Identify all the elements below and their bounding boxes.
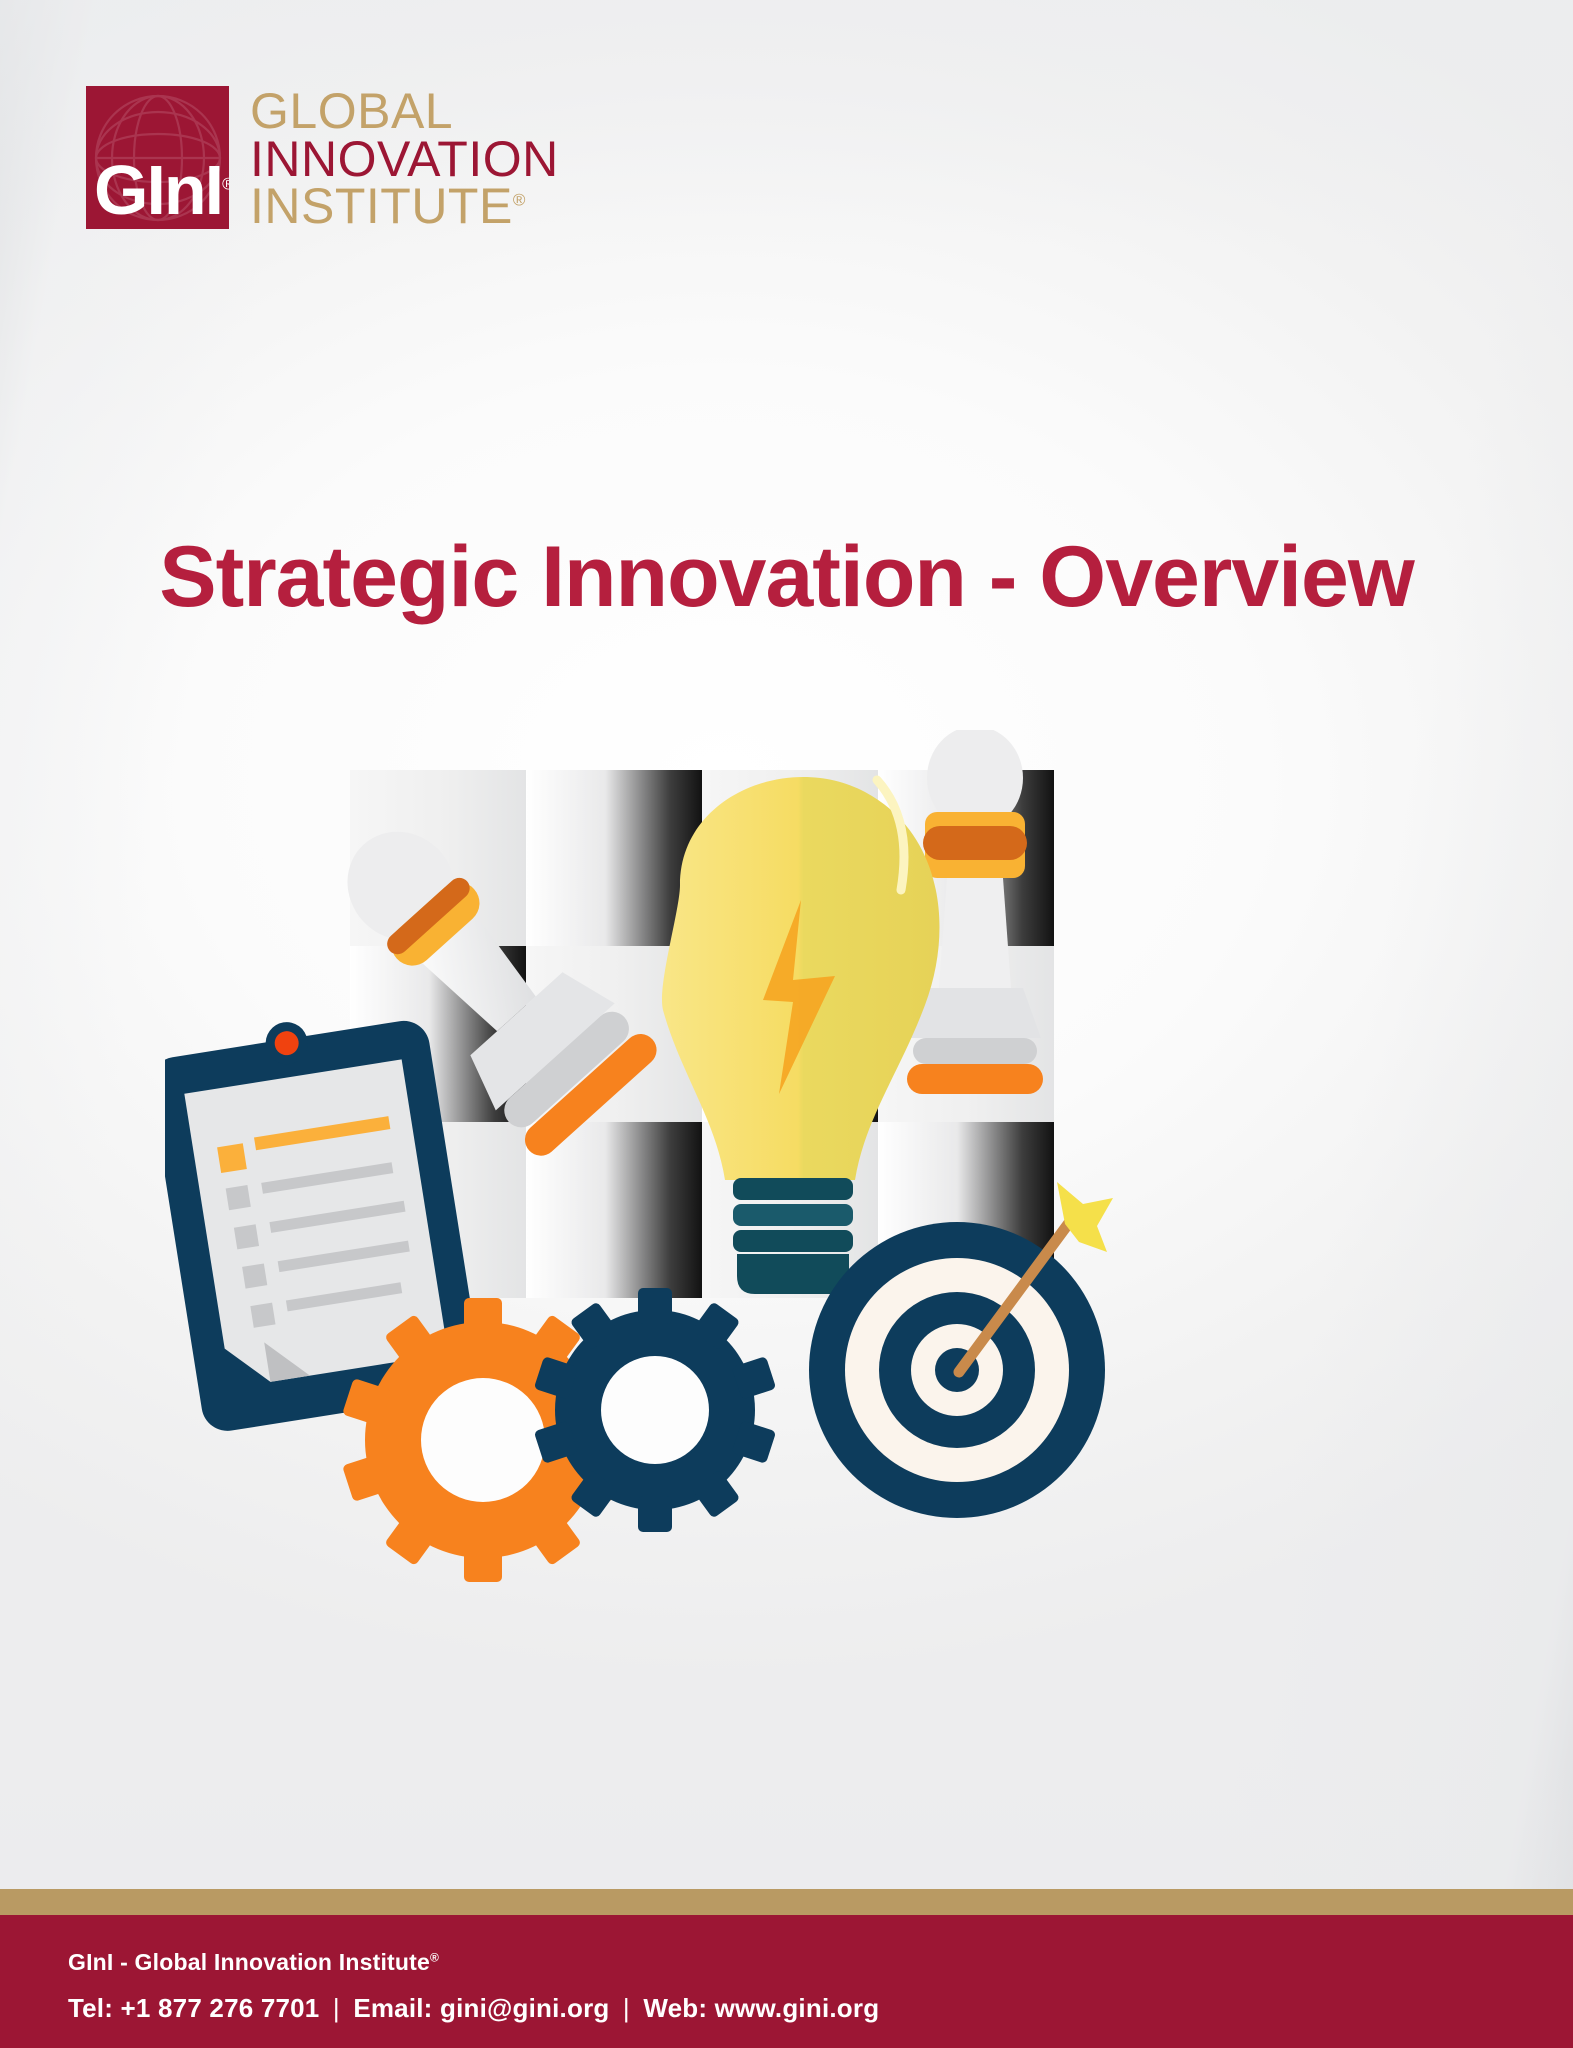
document-page: GInI® GLOBAL INNOVATION INSTITUTE® Strat…: [0, 0, 1573, 2048]
footer-tel-label: Tel:: [68, 1993, 113, 2023]
registered-mark-icon: ®: [430, 1950, 439, 1964]
logo-line-global: GLOBAL: [250, 88, 559, 136]
gini-logo-mark: GInI®: [86, 86, 229, 229]
footer-tel-value: +1 877 276 7701: [121, 1993, 320, 2023]
footer-gold-band: [0, 1889, 1573, 1915]
footer-web-value[interactable]: www.gini.org: [715, 1993, 880, 2023]
registered-mark-icon: ®: [222, 175, 229, 194]
logo-line-institute: INSTITUTE®: [250, 183, 559, 231]
registered-mark-icon: ®: [513, 190, 526, 209]
footer-separator: |: [617, 1993, 636, 2023]
page-footer: GInI - Global Innovation Institute® Tel:…: [0, 1915, 1573, 2048]
footer-contact-line: Tel: +1 877 276 7701 | Email: gini@gini.…: [68, 1993, 879, 2024]
page-title: Strategic Innovation - Overview: [0, 528, 1573, 627]
footer-email-value[interactable]: gini@gini.org: [440, 1993, 609, 2023]
footer-separator: |: [327, 1993, 346, 2023]
footer-web-label: Web:: [643, 1993, 707, 2023]
footer-org-line: GInI - Global Innovation Institute®: [68, 1949, 439, 1976]
gini-logo: GInI® GLOBAL INNOVATION INSTITUTE®: [86, 86, 559, 231]
strategic-innovation-illustration: [165, 730, 1415, 1850]
gini-logo-text-block: GLOBAL INNOVATION INSTITUTE®: [250, 88, 559, 231]
footer-email-label: Email:: [353, 1993, 432, 2023]
logo-line-innovation: INNOVATION: [250, 136, 559, 184]
gini-logo-wordmark: GInI®: [94, 155, 229, 225]
